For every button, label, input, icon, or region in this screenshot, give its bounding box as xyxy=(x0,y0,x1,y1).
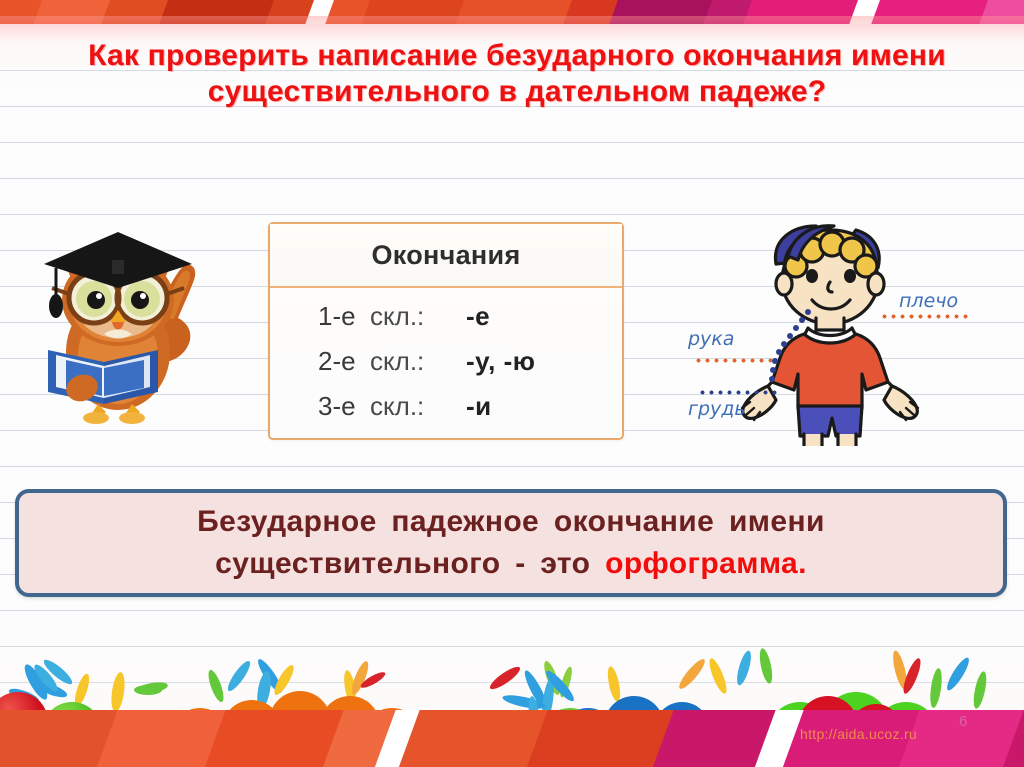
endings-table-header: Окончания xyxy=(270,224,622,288)
owl-teacher-illustration xyxy=(26,222,226,434)
declension-abbrev: скл.: xyxy=(370,391,466,422)
banner-line-2-prefix: существительного - это xyxy=(215,547,605,580)
banner-line-1: Безударное падежное окончание имени xyxy=(197,505,825,538)
endings-table: Окончания 1-е скл.: -е 2-е скл.: -у, -ю … xyxy=(268,222,624,440)
leader-line-chest xyxy=(698,390,778,395)
conclusion-banner-text: Безударное падежное окончание имени суще… xyxy=(181,501,841,585)
banner-highlight-word: орфограмма. xyxy=(605,547,807,580)
slide-canvas: Как проверить написание безударного окон… xyxy=(0,0,1024,767)
ending-value: -и xyxy=(466,391,492,422)
endings-table-body: 1-е скл.: -е 2-е скл.: -у, -ю 3-е скл.: … xyxy=(270,288,622,436)
conclusion-banner: Безударное падежное окончание имени суще… xyxy=(15,489,1007,597)
declension-abbrev: скл.: xyxy=(370,301,466,332)
page-title: Как проверить написание безударного окон… xyxy=(52,38,982,110)
ending-value: -у, -ю xyxy=(466,346,535,377)
page-number: 6 xyxy=(959,713,967,730)
declension-number: 2-е xyxy=(318,346,370,377)
table-row: 2-е скл.: -у, -ю xyxy=(318,346,622,391)
table-row: 3-е скл.: -и xyxy=(318,391,622,436)
leader-line-shoulder xyxy=(880,314,972,319)
endings-table-header-text: Окончания xyxy=(371,240,520,271)
ending-value: -е xyxy=(466,301,490,332)
boy-body-parts-illustration: плечо рука грудь xyxy=(680,218,1024,446)
body-label-shoulder: плечо xyxy=(899,290,958,312)
declension-number: 3-е xyxy=(318,391,370,422)
declension-abbrev: скл.: xyxy=(370,346,466,377)
declension-number: 1-е xyxy=(318,301,370,332)
body-label-arm: рука xyxy=(688,328,734,350)
credit-url[interactable]: http://aida.ucoz.ru xyxy=(800,726,917,742)
table-row: 1-е скл.: -е xyxy=(318,301,622,346)
body-label-chest: грудь xyxy=(688,398,746,420)
leader-line-arm xyxy=(694,358,772,363)
